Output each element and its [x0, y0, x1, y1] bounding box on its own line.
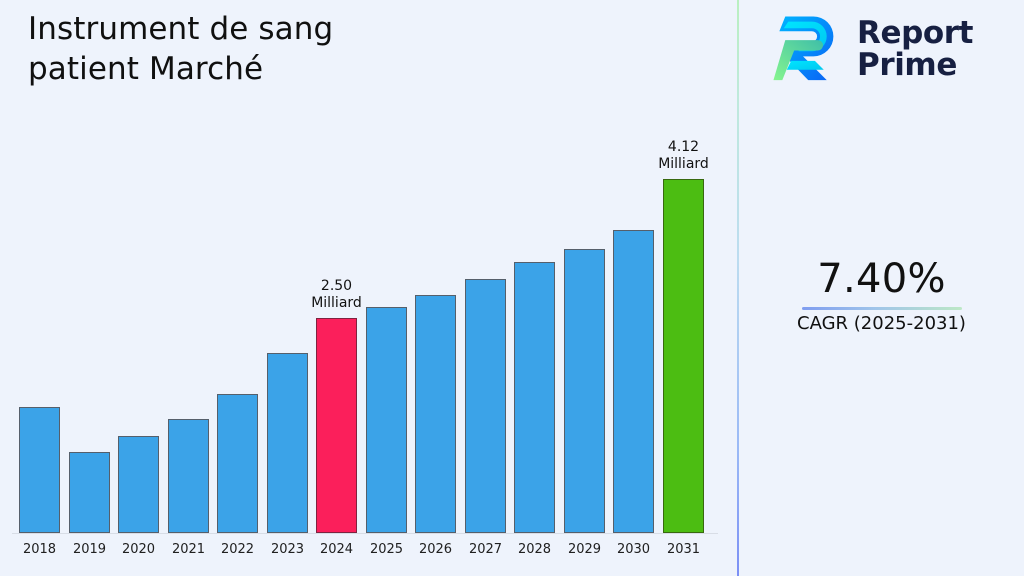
bar-rect-2026 — [415, 295, 456, 533]
bar-rect-2023 — [267, 353, 308, 533]
infographic-page: Instrument de sang patient Marché 2.50 M… — [0, 0, 1024, 576]
cagr-value: 7.40% — [739, 255, 1024, 303]
bar-chart: 2.50 Milliard4.12 Milliard 2018201920202… — [0, 0, 737, 576]
bar-rect-2025 — [366, 307, 407, 533]
brand-wordmark: Report Prime — [857, 17, 973, 81]
bar-value-label-2031: 4.12 Milliard — [629, 139, 739, 173]
bar-rect-2028 — [514, 262, 555, 533]
x-tick-2031: 2031 — [654, 541, 714, 558]
bar-rect-2024 — [316, 318, 357, 533]
bar-rect-2019 — [69, 452, 110, 533]
bar-rect-2030 — [613, 230, 654, 533]
brand-panel: Report Prime 7.40% CAGR (2025-2031) — [739, 0, 1024, 576]
bar-rect-2021 — [168, 419, 209, 533]
report-prime-r-logo-icon — [769, 12, 843, 86]
cagr-divider-rule — [802, 307, 962, 310]
bar-rect-2031 — [663, 179, 704, 533]
x-axis-line — [12, 533, 718, 534]
cagr-caption: CAGR (2025-2031) — [739, 312, 1024, 336]
bar-rect-2027 — [465, 279, 506, 533]
bar-rect-2022 — [217, 394, 258, 533]
brand-logo: Report Prime — [769, 12, 973, 86]
cagr-block: 7.40% CAGR (2025-2031) — [739, 255, 1024, 336]
bar-rect-2018 — [19, 407, 60, 533]
bar-rect-2029 — [564, 249, 605, 533]
chart-panel: Instrument de sang patient Marché 2.50 M… — [0, 0, 737, 576]
bar-rect-2020 — [118, 436, 159, 533]
